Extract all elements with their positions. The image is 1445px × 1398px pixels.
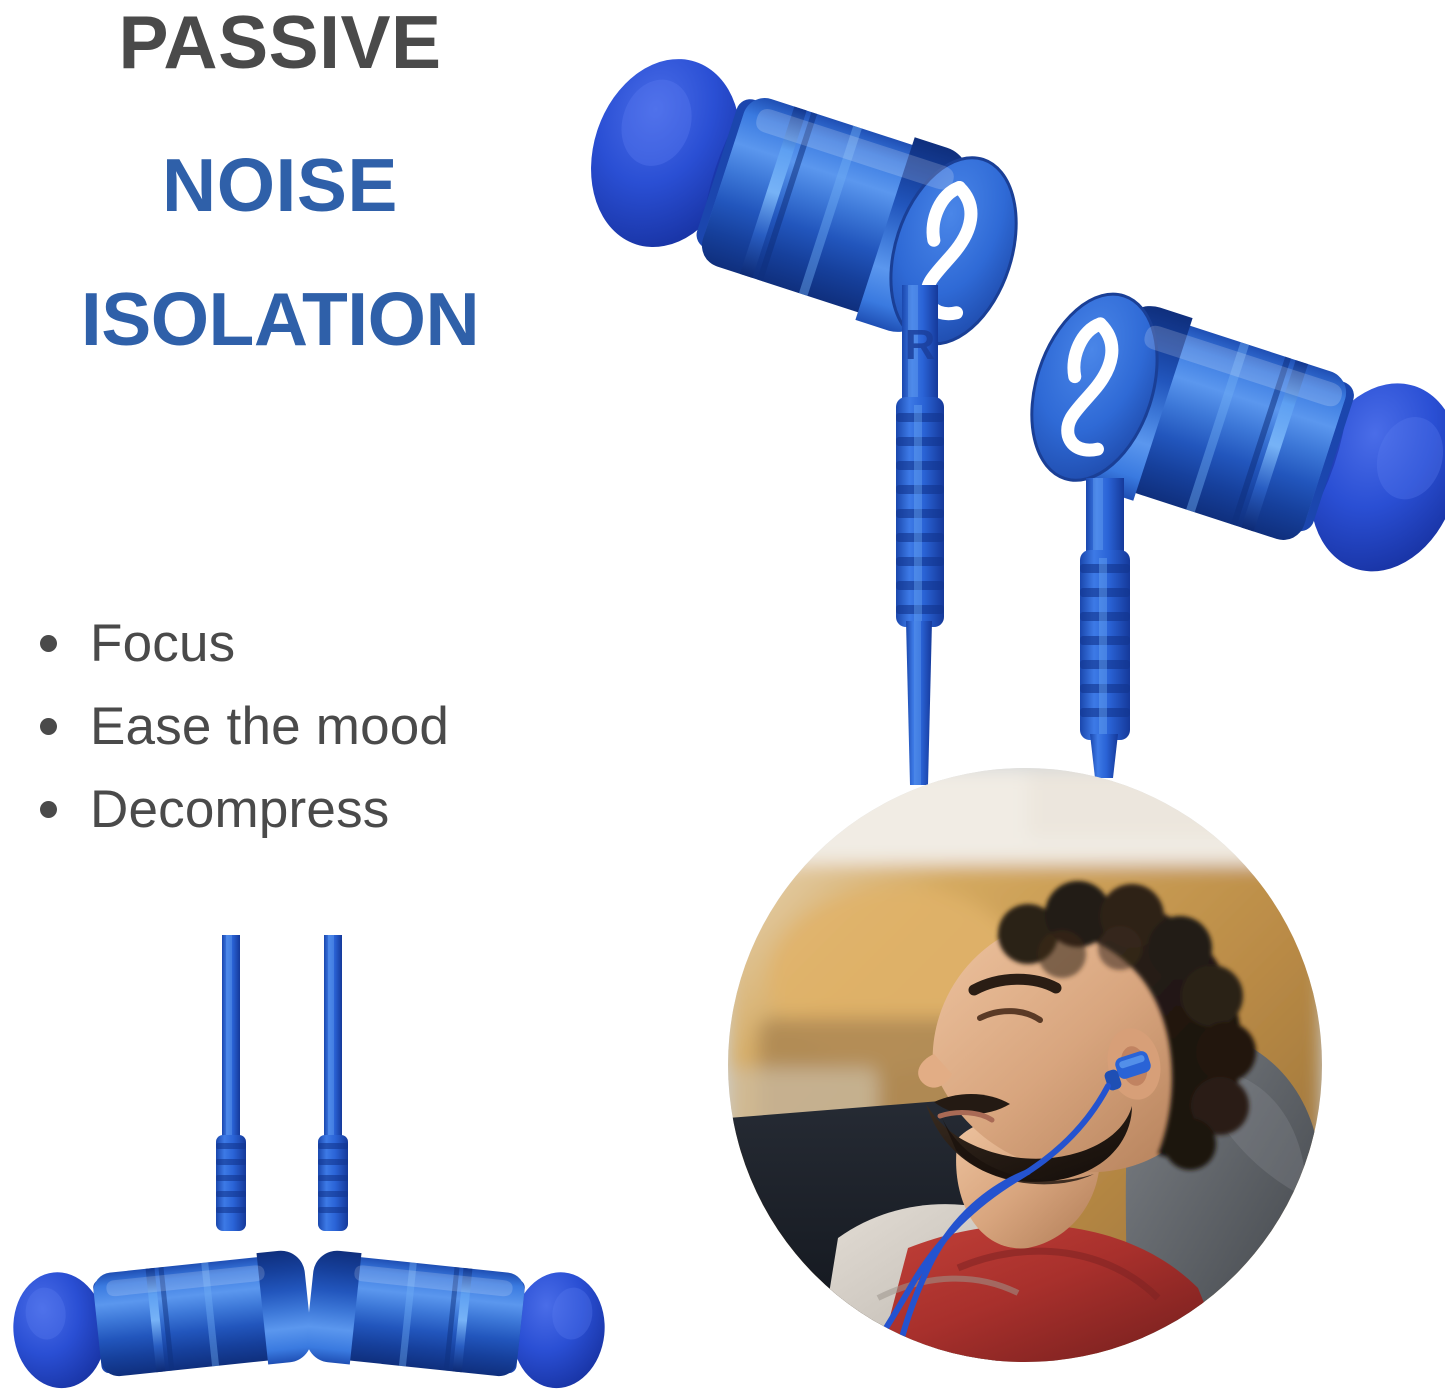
list-item: Decompress bbox=[34, 768, 554, 851]
hero-cable-right bbox=[1046, 478, 1166, 778]
channel-marking-r: R bbox=[905, 321, 935, 368]
headline-line-isolation: ISOLATION bbox=[0, 281, 560, 358]
benefits-list: Focus Ease the mood Decompress bbox=[34, 602, 554, 851]
benefit-label: Ease the mood bbox=[90, 696, 449, 757]
bullet-dot-icon bbox=[40, 718, 57, 735]
bullet-dot-icon bbox=[40, 635, 57, 652]
strain-relief-ribs bbox=[1080, 550, 1130, 740]
headline-line-passive: PASSIVE bbox=[0, 4, 560, 81]
lifestyle-photo-circle: Bearded man with curly dark hair reclini… bbox=[728, 768, 1322, 1362]
bottom-pair-cable-right bbox=[298, 935, 368, 1235]
strain-relief-ribs bbox=[896, 397, 944, 627]
bullet-dot-icon bbox=[40, 801, 57, 818]
hero-earbud-right bbox=[960, 228, 1445, 628]
headline-line-noise: NOISE bbox=[0, 147, 560, 224]
list-item: Focus bbox=[34, 602, 554, 685]
lifestyle-photo: Bearded man with curly dark hair reclini… bbox=[728, 768, 1322, 1362]
list-item: Ease the mood bbox=[34, 685, 554, 768]
benefit-label: Decompress bbox=[90, 779, 389, 840]
product-feature-canvas: PASSIVE NOISE ISOLATION Focus Ease the m… bbox=[0, 0, 1445, 1398]
bottom-pair-cable-left bbox=[196, 935, 266, 1235]
headline-block: PASSIVE NOISE ISOLATION bbox=[0, 0, 560, 358]
benefit-label: Focus bbox=[90, 613, 235, 674]
bottom-earbud-right bbox=[278, 1210, 608, 1398]
